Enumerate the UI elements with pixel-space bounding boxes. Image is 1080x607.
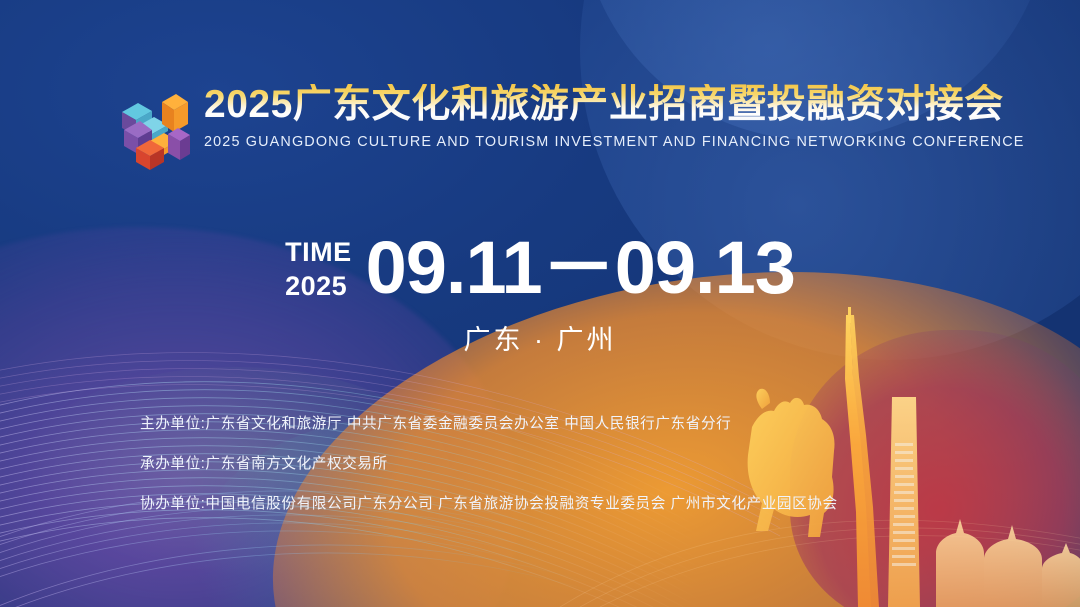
event-date-block: TIME 2025 09.11－09.13 xyxy=(0,232,1080,303)
organizer-line-undertaker: 承办单位:广东省南方文化产权交易所 xyxy=(140,452,838,473)
event-location: 广东 · 广州 xyxy=(0,318,1080,357)
organizer-list: 主办单位:广东省文化和旅游厅 中共广东省委金融委员会办公室 中国人民银行广东省分… xyxy=(140,412,838,513)
organizer-line-coorganizer: 协办单位:中国电信股份有限公司广东分公司 广东省旅游协会投融资专业委员会 广州市… xyxy=(140,492,838,513)
page-title: 2025广东文化和旅游产业招商暨投融资对接会 xyxy=(204,84,1025,127)
time-label-group: TIME 2025 xyxy=(285,239,352,300)
page-subtitle: 2025 GUANGDONG CULTURE AND TOURISM INVES… xyxy=(204,134,1025,150)
time-year: 2025 xyxy=(285,273,352,300)
pagoda-roof xyxy=(936,519,1080,607)
time-label: TIME xyxy=(285,239,352,266)
skyscraper xyxy=(888,397,920,607)
organizer-line-host: 主办单位:广东省文化和旅游厅 中共广东省委金融委员会办公室 中国人民银行广东省分… xyxy=(140,412,838,433)
conference-logo-icon xyxy=(118,86,190,172)
event-date-range: 09.11－09.13 xyxy=(366,232,795,303)
conference-poster: 2025广东文化和旅游产业招商暨投融资对接会 2025 GUANGDONG CU… xyxy=(0,0,1080,607)
poster-header: 2025广东文化和旅游产业招商暨投融资对接会 2025 GUANGDONG CU… xyxy=(118,84,1025,172)
